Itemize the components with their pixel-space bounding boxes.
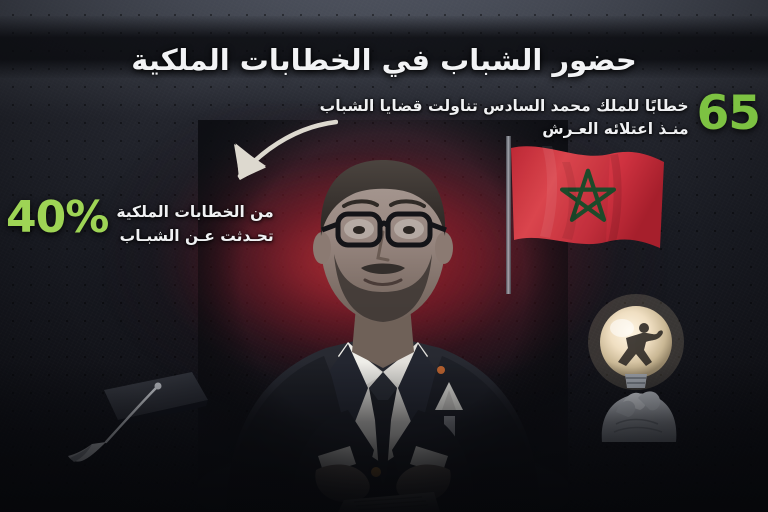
- stat-65-line-2: منـذ اعتلائه العـرش: [320, 118, 689, 141]
- stat-speeches-count: 65 خطابًا للملك محمد السادس تناولت قضايا…: [320, 92, 760, 142]
- curved-arrow-icon: [196, 118, 338, 200]
- infographic-canvas: حضور الشباب في الخطابات الملكية 65 خطابً…: [0, 0, 768, 512]
- stat-40-line-1: من الخطابات الملكية: [116, 200, 273, 224]
- page-title: حضور الشباب في الخطابات الملكية: [0, 41, 768, 80]
- stat-40-value: 40%: [6, 196, 108, 240]
- stat-40-line-2: تحـدثت عـن الشبـاب: [116, 224, 273, 248]
- stat-65-value: 65: [697, 92, 760, 135]
- stat-65-text: خطابًا للملك محمد السادس تناولت قضايا ال…: [320, 92, 689, 142]
- stat-65-line-1: خطابًا للملك محمد السادس تناولت قضايا ال…: [320, 95, 689, 118]
- stat-youth-percentage: 40% من الخطابات الملكية تحـدثت عـن الشبـ…: [6, 196, 274, 248]
- stat-40-text: من الخطابات الملكية تحـدثت عـن الشبـاب: [116, 196, 273, 248]
